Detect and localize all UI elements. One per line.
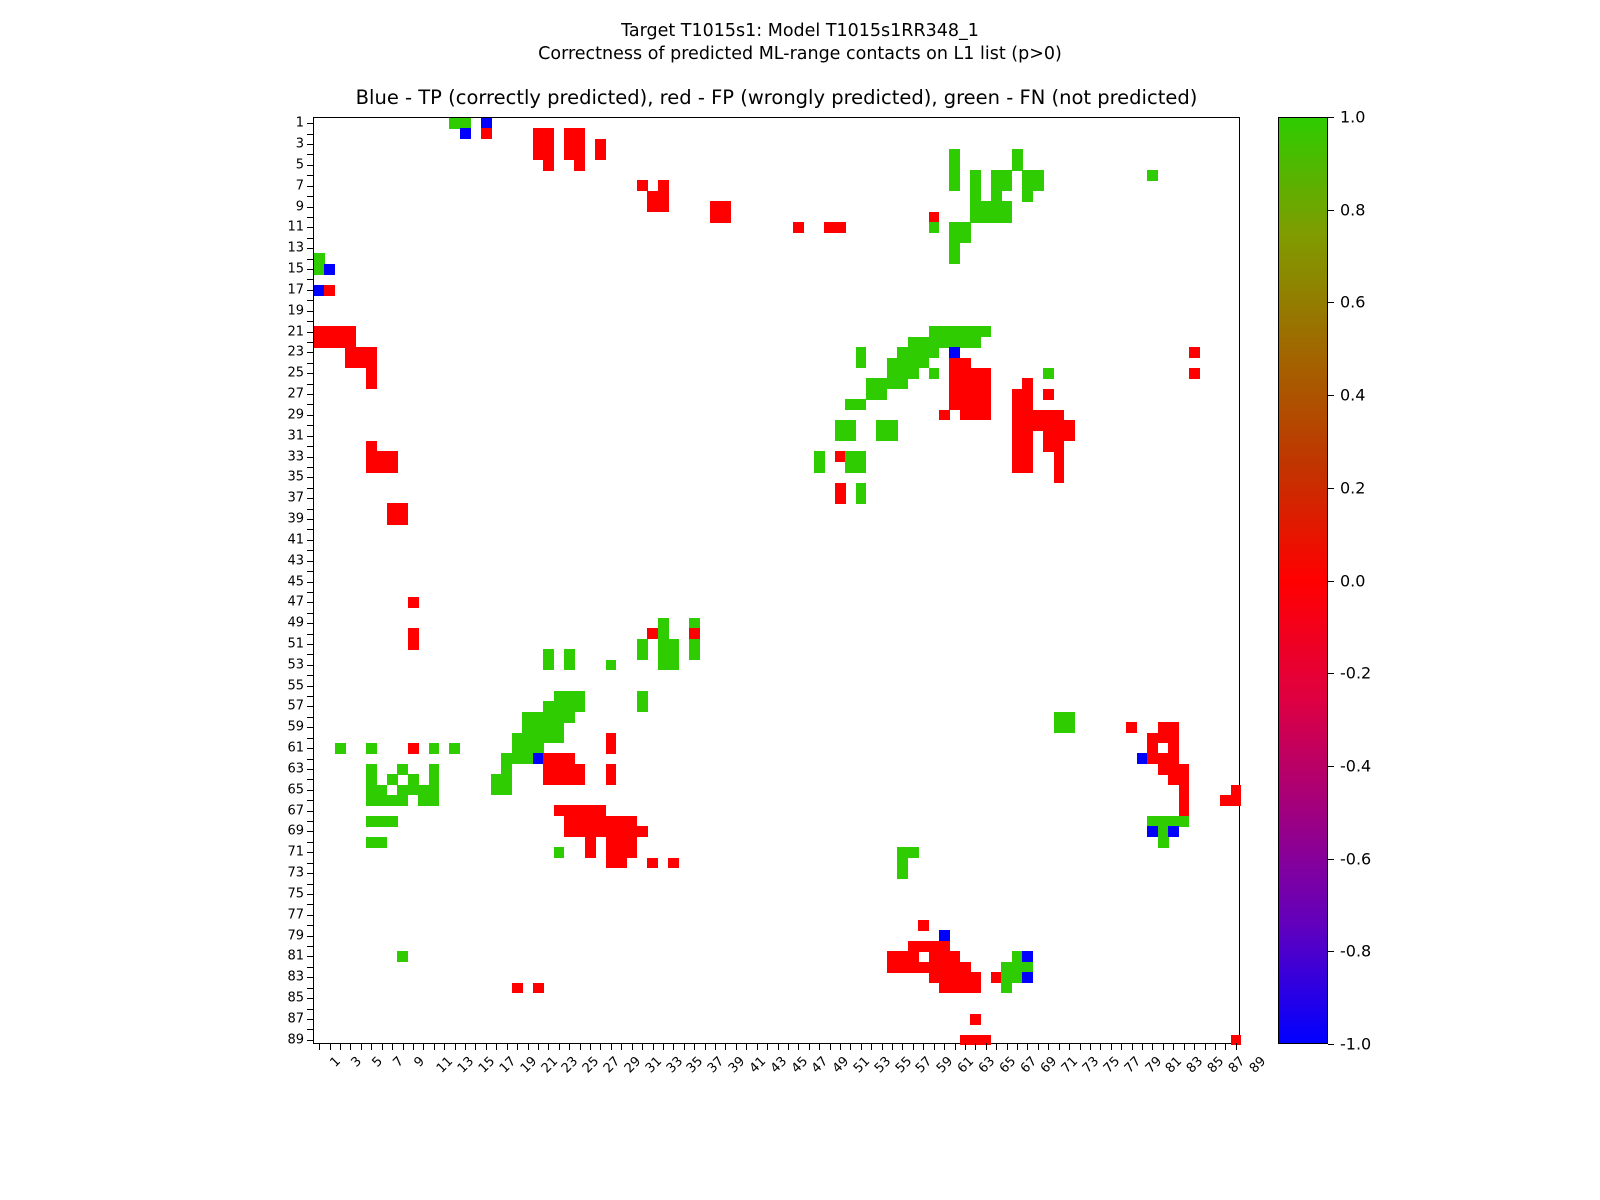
y-tick xyxy=(307,956,314,957)
colorbar-tick-label: 0.0 xyxy=(1340,571,1365,590)
heatmap-cell-fp xyxy=(949,389,960,400)
x-tick-label: 15 xyxy=(476,1054,498,1076)
heatmap-cell-fp xyxy=(1054,472,1065,483)
heatmap-cell-fn xyxy=(376,816,387,827)
y-tick xyxy=(307,175,314,176)
y-tick xyxy=(307,529,314,530)
heatmap-cell-fp xyxy=(1168,733,1179,744)
y-tick xyxy=(307,936,314,937)
y-tick-label: 5 xyxy=(296,157,304,172)
heatmap-cell-fp xyxy=(1054,410,1065,421)
heatmap-cell-fp xyxy=(689,628,700,639)
heatmap-cell-fn xyxy=(1158,837,1169,848)
heatmap-cell-fp xyxy=(835,451,846,462)
heatmap-cell-fn xyxy=(554,847,565,858)
y-tick xyxy=(307,759,314,760)
x-tick xyxy=(632,1043,633,1050)
y-tick xyxy=(307,238,314,239)
heatmap-cell-fn xyxy=(949,222,960,233)
y-tick xyxy=(307,415,314,416)
colorbar-tick xyxy=(1328,951,1334,952)
x-tick xyxy=(330,1043,331,1050)
x-tick xyxy=(934,1043,935,1050)
y-tick xyxy=(307,884,314,885)
heatmap-cell-fp xyxy=(1012,462,1023,473)
y-tick xyxy=(307,623,314,624)
heatmap-cell-fn xyxy=(970,212,981,223)
x-tick-label: 53 xyxy=(872,1054,894,1076)
heatmap-cell-fp xyxy=(543,774,554,785)
heatmap-cell-tp xyxy=(1022,951,1033,962)
heatmap-cell-fn xyxy=(1168,816,1179,827)
heatmap-cell-fp xyxy=(939,962,950,973)
y-tick xyxy=(307,988,314,989)
heatmap-cell-fp xyxy=(970,410,981,421)
x-tick-label: 49 xyxy=(830,1054,852,1076)
heatmap-cell-fp xyxy=(1022,441,1033,452)
heatmap-cell-fn xyxy=(533,733,544,744)
heatmap-cell-fn xyxy=(1022,170,1033,181)
heatmap-cell-fp xyxy=(939,983,950,994)
heatmap-cell-fp xyxy=(481,128,492,139)
x-tick xyxy=(944,1043,945,1050)
heatmap-cell-fp xyxy=(835,493,846,504)
heatmap-cell-fp xyxy=(658,180,669,191)
heatmap-cell-fn xyxy=(1033,170,1044,181)
heatmap-cell-fn xyxy=(429,743,440,754)
heatmap-cell-fn xyxy=(949,170,960,181)
heatmap-cell-fp xyxy=(647,191,658,202)
heatmap-cell-fn xyxy=(564,712,575,723)
heatmap-cell-fp xyxy=(960,410,971,421)
y-tick-label: 21 xyxy=(287,324,304,339)
heatmap-cell-fn xyxy=(887,378,898,389)
heatmap-cell-fp xyxy=(366,441,377,452)
y-tick xyxy=(307,592,314,593)
heatmap-cell-fp xyxy=(543,128,554,139)
y-tick xyxy=(307,311,314,312)
y-tick-label: 41 xyxy=(287,532,304,547)
heatmap-cell-fn xyxy=(522,722,533,733)
colorbar-tick-label: 0.2 xyxy=(1340,478,1365,497)
y-tick xyxy=(307,477,314,478)
heatmap-cell-fp xyxy=(793,222,804,233)
chart-title-block: Target T1015s1: Model T1015s1RR348_1 Cor… xyxy=(0,20,1600,66)
heatmap-cell-fp xyxy=(606,847,617,858)
x-tick xyxy=(923,1043,924,1050)
heatmap-cell-fp xyxy=(543,139,554,150)
y-tick-label: 47 xyxy=(287,595,304,610)
y-tick-label: 49 xyxy=(287,616,304,631)
x-tick-label: 47 xyxy=(809,1054,831,1076)
heatmap-cell-fn xyxy=(991,191,1002,202)
x-tick xyxy=(1152,1043,1153,1050)
heatmap-cell-fn xyxy=(918,337,929,348)
heatmap-cell-fn xyxy=(606,660,617,671)
heatmap-cell-fp xyxy=(710,212,721,223)
y-tick xyxy=(307,1029,314,1030)
heatmap-cell-fn xyxy=(335,743,346,754)
heatmap-cell-fn xyxy=(543,722,554,733)
x-tick xyxy=(1225,1043,1226,1050)
y-tick xyxy=(307,686,314,687)
heatmap-cell-fp xyxy=(595,805,606,816)
y-tick xyxy=(307,321,314,322)
heatmap-cell-fn xyxy=(845,462,856,473)
heatmap-cell-fp xyxy=(554,774,565,785)
heatmap-cell-fp xyxy=(543,160,554,171)
x-tick xyxy=(1038,1043,1039,1050)
heatmap-cell-fp xyxy=(533,983,544,994)
y-tick-label: 83 xyxy=(287,970,304,985)
heatmap-cell-fn xyxy=(814,451,825,462)
heatmap-cell-fp xyxy=(1179,805,1190,816)
heatmap-cell-fp xyxy=(366,358,377,369)
heatmap-cell-fn xyxy=(397,795,408,806)
colorbar-tick-label: -0.4 xyxy=(1340,756,1371,775)
heatmap-cell-fn xyxy=(574,701,585,712)
heatmap-cell-fp xyxy=(324,285,335,296)
heatmap-cell-fp xyxy=(908,962,919,973)
heatmap-cell-fp xyxy=(991,972,1002,983)
heatmap-cell-fp xyxy=(606,764,617,775)
x-tick xyxy=(809,1043,810,1050)
heatmap-cell-fn xyxy=(845,451,856,462)
x-tick-label: 1 xyxy=(328,1054,344,1070)
y-tick-label: 73 xyxy=(287,866,304,881)
x-tick-label: 5 xyxy=(369,1054,385,1070)
y-tick-label: 13 xyxy=(287,241,304,256)
x-tick xyxy=(350,1043,351,1050)
heatmap-cell-fp xyxy=(595,149,606,160)
heatmap-cell-fp xyxy=(1231,795,1242,806)
x-tick xyxy=(1163,1043,1164,1050)
heatmap-cell-fp xyxy=(564,764,575,775)
heatmap-cell-fn xyxy=(929,347,940,358)
x-tick xyxy=(517,1043,518,1050)
heatmap-cell-fn xyxy=(929,368,940,379)
heatmap-cell-fp xyxy=(1179,795,1190,806)
heatmap-cell-fn xyxy=(564,660,575,671)
y-tick-label: 27 xyxy=(287,387,304,402)
y-tick-label: 3 xyxy=(296,137,304,152)
heatmap-cell-fn xyxy=(449,118,460,129)
heatmap-cell-fn xyxy=(429,774,440,785)
y-tick-label: 69 xyxy=(287,824,304,839)
x-tick-label: 85 xyxy=(1205,1054,1227,1076)
x-tick-label: 77 xyxy=(1122,1054,1144,1076)
y-tick-label: 57 xyxy=(287,699,304,714)
heatmap-cell-fp xyxy=(324,337,335,348)
x-tick xyxy=(705,1043,706,1050)
heatmap-cell-fn xyxy=(387,774,398,785)
x-tick xyxy=(423,1043,424,1050)
heatmap-cell-fp xyxy=(543,764,554,775)
heatmap-cell-fn xyxy=(835,420,846,431)
heatmap-cell-fn xyxy=(970,191,981,202)
x-tick xyxy=(1205,1043,1206,1050)
heatmap-cell-fp xyxy=(616,826,627,837)
heatmap-cell-fp xyxy=(626,837,637,848)
x-tick-label: 73 xyxy=(1080,1054,1102,1076)
heatmap-cell-fn xyxy=(1001,983,1012,994)
heatmap-cell-fp xyxy=(1064,430,1075,441)
x-tick xyxy=(371,1043,372,1050)
y-tick xyxy=(307,540,314,541)
x-tick-label: 43 xyxy=(768,1054,790,1076)
y-tick xyxy=(307,613,314,614)
heatmap-cell-fn xyxy=(554,733,565,744)
heatmap-cell-fp xyxy=(574,128,585,139)
x-tick xyxy=(1173,1043,1174,1050)
heatmap-cell-fp xyxy=(356,358,367,369)
heatmap-cell-fn xyxy=(554,712,565,723)
heatmap-cell-fn xyxy=(689,639,700,650)
heatmap-cell-fp xyxy=(616,837,627,848)
x-tick xyxy=(1215,1043,1216,1050)
x-tick xyxy=(1059,1043,1060,1050)
heatmap-cell-fn xyxy=(668,649,679,660)
heatmap-cell-fp xyxy=(960,368,971,379)
heatmap-cell-fp xyxy=(929,972,940,983)
heatmap-cell-fp xyxy=(564,139,575,150)
colorbar-tick-label: -0.8 xyxy=(1340,942,1371,961)
x-tick xyxy=(507,1043,508,1050)
x-tick xyxy=(819,1043,820,1050)
x-tick xyxy=(403,1043,404,1050)
heatmap-cell-fp xyxy=(1126,722,1137,733)
heatmap-cell-fp xyxy=(585,837,596,848)
heatmap-cell-fn xyxy=(564,691,575,702)
heatmap-cell-fp xyxy=(949,983,960,994)
heatmap-cell-fn xyxy=(637,701,648,712)
heatmap-cell-fn xyxy=(981,212,992,223)
heatmap-cell-fp xyxy=(606,816,617,827)
heatmap-cell-fp xyxy=(554,764,565,775)
colorbar-tick-label: -1.0 xyxy=(1340,1035,1371,1054)
heatmap-cell-fn xyxy=(991,212,1002,223)
x-tick xyxy=(1048,1043,1049,1050)
y-tick xyxy=(307,425,314,426)
heatmap-cell-fp xyxy=(929,951,940,962)
heatmap-cell-fp xyxy=(637,180,648,191)
x-tick xyxy=(757,1043,758,1050)
x-tick xyxy=(736,1043,737,1050)
heatmap-cell-fn xyxy=(960,233,971,244)
heatmap-cell-fn xyxy=(970,337,981,348)
heatmap-cell-fp xyxy=(626,816,637,827)
x-tick xyxy=(319,1043,320,1050)
y-tick-label: 29 xyxy=(287,407,304,422)
heatmap-cell-fp xyxy=(1064,420,1075,431)
heatmap-cell-fp xyxy=(574,805,585,816)
x-tick xyxy=(1111,1043,1112,1050)
heatmap-cell-fn xyxy=(1158,826,1169,837)
y-tick xyxy=(307,665,314,666)
x-tick xyxy=(392,1043,393,1050)
heatmap-cell-fp xyxy=(606,743,617,754)
heatmap-cell-fn xyxy=(658,660,669,671)
heatmap-cell-fp xyxy=(949,962,960,973)
heatmap-cell-fn xyxy=(418,795,429,806)
heatmap-cell-fp xyxy=(710,201,721,212)
heatmap-cell-fp xyxy=(897,962,908,973)
heatmap-cell-fn xyxy=(856,399,867,410)
heatmap-cell-fp xyxy=(595,816,606,827)
heatmap-cell-tp xyxy=(324,264,335,275)
y-tick-label: 7 xyxy=(296,178,304,193)
heatmap-cell-fp xyxy=(1022,378,1033,389)
heatmap-cell-fp xyxy=(647,628,658,639)
heatmap-cell-fn xyxy=(908,368,919,379)
y-tick-label: 45 xyxy=(287,574,304,589)
heatmap-cell-fp xyxy=(1158,753,1169,764)
x-tick xyxy=(486,1043,487,1050)
x-tick xyxy=(340,1043,341,1050)
heatmap-cell-fn xyxy=(970,180,981,191)
x-tick xyxy=(955,1043,956,1050)
y-tick-label: 77 xyxy=(287,907,304,922)
x-tick-label: 71 xyxy=(1059,1054,1081,1076)
y-tick xyxy=(307,404,314,405)
y-tick xyxy=(307,967,314,968)
heatmap-cell-fp xyxy=(897,951,908,962)
x-tick-label: 31 xyxy=(643,1054,665,1076)
colorbar-tick xyxy=(1328,766,1334,767)
heatmap-cell-fp xyxy=(397,503,408,514)
y-tick-label: 87 xyxy=(287,1011,304,1026)
heatmap-cell-fn xyxy=(418,785,429,796)
heatmap-cell-fp xyxy=(1147,733,1158,744)
x-tick xyxy=(1017,1043,1018,1050)
heatmap-cell-tp xyxy=(460,128,471,139)
heatmap-cell-fp xyxy=(585,816,596,827)
x-tick xyxy=(382,1043,383,1050)
heatmap-cell-fp xyxy=(616,816,627,827)
chart-legend-subtitle: Blue - TP (correctly predicted), red - F… xyxy=(313,86,1240,109)
heatmap-cell-fn xyxy=(876,389,887,400)
heatmap-cell-fn xyxy=(501,764,512,775)
y-tick xyxy=(307,779,314,780)
y-tick-label: 53 xyxy=(287,657,304,672)
heatmap-cell-fp xyxy=(616,858,627,869)
heatmap-cell-fn xyxy=(908,358,919,369)
heatmap-cell-fp xyxy=(1054,420,1065,431)
heatmap-cell-fn xyxy=(366,837,377,848)
x-tick xyxy=(1184,1043,1185,1050)
x-tick-label: 63 xyxy=(976,1054,998,1076)
heatmap-cell-fp xyxy=(408,743,419,754)
y-tick xyxy=(307,811,314,812)
heatmap-cell-fp xyxy=(554,805,565,816)
heatmap-cell-fp xyxy=(908,941,919,952)
colorbar: 1.00.80.60.40.20.0-0.2-0.4-0.6-0.8-1.0 xyxy=(1278,117,1328,1044)
heatmap-cell-fp xyxy=(574,816,585,827)
heatmap-cell-fn xyxy=(1054,722,1065,733)
y-tick-label: 23 xyxy=(287,345,304,360)
x-tick-label: 23 xyxy=(559,1054,581,1076)
heatmap-cell-fp xyxy=(554,753,565,764)
heatmap-cell-fn xyxy=(689,649,700,660)
y-tick-label: 51 xyxy=(287,636,304,651)
heatmap-cell-fn xyxy=(1179,816,1190,827)
y-tick xyxy=(307,634,314,635)
y-tick-label: 85 xyxy=(287,991,304,1006)
heatmap-cell-fn xyxy=(856,451,867,462)
x-tick xyxy=(475,1043,476,1050)
heatmap-cell-fp xyxy=(720,201,731,212)
y-tick xyxy=(307,675,314,676)
heatmap-cell-fp xyxy=(1054,441,1065,452)
heatmap-cell-fp xyxy=(658,201,669,212)
heatmap-cell-fn xyxy=(543,701,554,712)
x-tick xyxy=(1142,1043,1143,1050)
heatmap-cell-fp xyxy=(345,347,356,358)
heatmap-cell-fn xyxy=(949,233,960,244)
heatmap-cell-fn xyxy=(866,389,877,400)
heatmap-cell-fn xyxy=(856,358,867,369)
heatmap-cell-fn xyxy=(397,764,408,775)
heatmap-cell-fn xyxy=(981,201,992,212)
heatmap-cell-fn xyxy=(1001,972,1012,983)
heatmap-cell-fn xyxy=(429,785,440,796)
x-tick-label: 89 xyxy=(1247,1054,1269,1076)
heatmap-cell-fn xyxy=(387,795,398,806)
y-tick-label: 59 xyxy=(287,720,304,735)
heatmap-cell-fp xyxy=(626,826,637,837)
x-tick-label: 21 xyxy=(538,1054,560,1076)
y-tick xyxy=(307,498,314,499)
x-tick xyxy=(871,1043,872,1050)
x-tick-label: 35 xyxy=(684,1054,706,1076)
heatmap-cell-fp xyxy=(960,972,971,983)
x-tick xyxy=(590,1043,591,1050)
y-tick xyxy=(307,259,314,260)
heatmap-cell-fn xyxy=(887,358,898,369)
heatmap-cell-fp xyxy=(376,462,387,473)
heatmap-cell-fn xyxy=(512,733,523,744)
x-tick-label: 25 xyxy=(580,1054,602,1076)
y-tick-label: 35 xyxy=(287,470,304,485)
heatmap-cell-fp xyxy=(408,628,419,639)
y-tick xyxy=(307,738,314,739)
heatmap-cell-fn xyxy=(522,733,533,744)
x-tick xyxy=(725,1043,726,1050)
y-tick-label: 31 xyxy=(287,428,304,443)
heatmap-cell-fp xyxy=(387,451,398,462)
heatmap-cell-fp xyxy=(1012,451,1023,462)
colorbar-tick-label: 1.0 xyxy=(1340,108,1365,127)
heatmap-cell-fp xyxy=(981,368,992,379)
heatmap-cell-fp xyxy=(981,389,992,400)
x-tick xyxy=(1100,1043,1101,1050)
x-tick-label: 27 xyxy=(601,1054,623,1076)
heatmap-cell-fp xyxy=(564,826,575,837)
colorbar-tick xyxy=(1328,1044,1334,1045)
heatmap-cell-fn xyxy=(949,337,960,348)
heatmap-cell-fp xyxy=(939,410,950,421)
heatmap-cell-fn xyxy=(449,743,460,754)
heatmap-cell-fp xyxy=(658,191,669,202)
heatmap-cell-fp xyxy=(1022,389,1033,400)
y-tick xyxy=(307,863,314,864)
heatmap-cell-fn xyxy=(929,337,940,348)
y-tick xyxy=(307,998,314,999)
heatmap-cell-fn xyxy=(897,358,908,369)
heatmap-cell-fn xyxy=(1043,368,1054,379)
heatmap-cell-fp xyxy=(1012,441,1023,452)
heatmap-cell-fp xyxy=(1168,743,1179,754)
